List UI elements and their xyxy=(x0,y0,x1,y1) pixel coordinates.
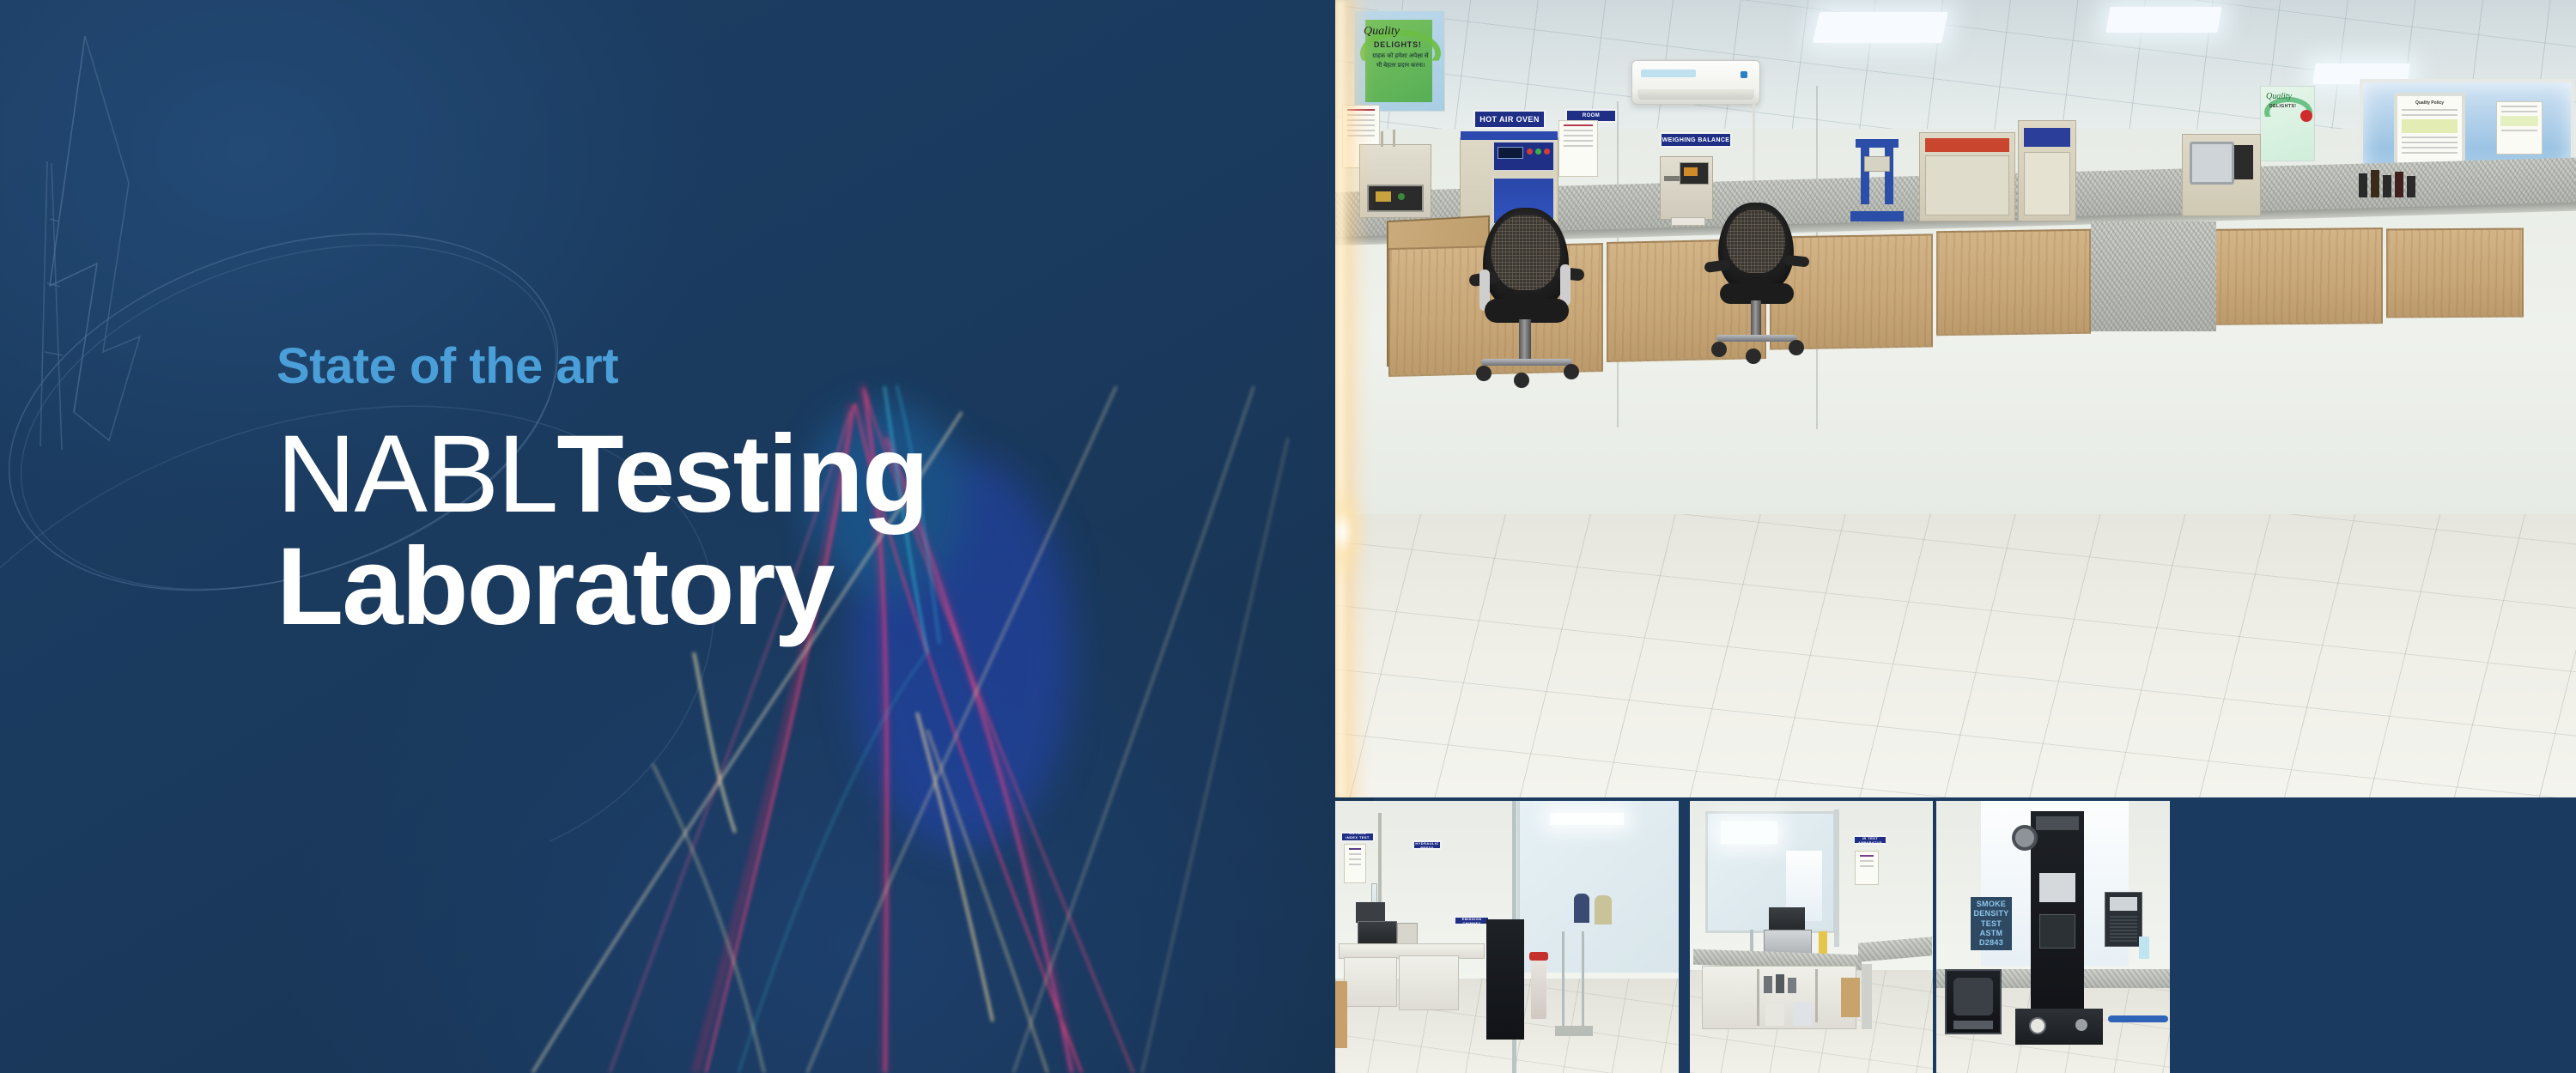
left-brand-panel: State of the art NABLTesting Laboratory xyxy=(0,0,1374,1073)
laboratory-oven xyxy=(1919,132,2015,221)
tap-fixture xyxy=(1750,930,1753,954)
sign-hot-air-oven: HOT AIR OVEN xyxy=(1473,110,1546,129)
sign-ir-test-apparatus: IR TEST APPARATUS xyxy=(1853,835,1887,845)
laboratory-oven xyxy=(2018,120,2076,221)
floor-tile-grid xyxy=(1335,514,2576,797)
hero-text-block: State of the art NABLTesting Laboratory xyxy=(276,342,1290,641)
vertical-duct xyxy=(1862,964,1872,1029)
ceiling-light xyxy=(1550,813,1624,825)
lab-photo-column: Quality DELIGHTS! ग्राहक को हमेशा अपेक्ष… xyxy=(1335,0,2576,1073)
test-stand-base xyxy=(1555,1026,1593,1036)
reagent-bottles xyxy=(2357,168,2424,197)
photo-warm-edge xyxy=(1335,0,1375,797)
smoke-density-chamber xyxy=(1945,969,2002,1034)
hero-kicker: State of the art xyxy=(276,342,1290,391)
granite-side-counter xyxy=(2091,221,2216,331)
hero-banner: State of the art NABLTesting Laboratory xyxy=(0,0,2576,1073)
shelf-divider xyxy=(1815,969,1818,1022)
title-word-laboratory: Laboratory xyxy=(276,533,1290,640)
wall-panel xyxy=(1834,809,1839,947)
sign-hydraulic-press: HYDRAULIC PRESS xyxy=(1413,840,1442,850)
air-conditioner xyxy=(1631,60,1760,105)
weighing-balance-instrument xyxy=(1660,156,1713,220)
thumbnail-strip: OXYGEN INDEX TEST APPARATUS HYDRAULIC PR… xyxy=(1335,801,2576,1073)
title-word-nabl: NABL xyxy=(276,413,556,536)
universal-testing-machine xyxy=(2031,811,2084,1022)
wall-document xyxy=(2496,101,2543,155)
fire-extinguisher xyxy=(1531,959,1546,1019)
compression-testing-machine xyxy=(1850,139,1904,221)
poster-body: ग्राहक को हमेशा अपेक्षा से भी बेहतर प्रद… xyxy=(1370,52,1431,70)
instrument-panel xyxy=(2105,892,2142,947)
ceiling-light xyxy=(1721,821,1777,844)
muffle-furnace xyxy=(2182,134,2261,216)
reagent-bottle xyxy=(1819,931,1827,954)
test-stand xyxy=(1562,931,1584,1029)
ceiling-light xyxy=(2105,7,2221,33)
poster-right-title: Quality xyxy=(2266,92,2292,101)
person-silhouette xyxy=(1595,895,1612,924)
main-lab-photo: Quality DELIGHTS! ग्राहक को हमेशा अपेक्ष… xyxy=(1335,0,2576,797)
under-counter-cabinet xyxy=(1936,229,2091,336)
poster-subtitle: DELIGHTS! xyxy=(1374,40,1422,49)
quality-poster-right: Quality DELIGHTS! xyxy=(2260,86,2315,161)
thumbnail-granite-bench-lab[interactable]: IR TEST APPARATUS xyxy=(1690,801,1933,1073)
pulley-wheel xyxy=(2012,825,2038,851)
under-counter-cabinet xyxy=(1770,233,1933,349)
fire-alarm-bell xyxy=(2300,110,2312,122)
under-counter-cabinet xyxy=(1607,239,1766,362)
wall-document xyxy=(1855,851,1879,885)
page-title: NABLTesting Laboratory xyxy=(276,421,1290,641)
under-counter-cabinet xyxy=(2211,227,2383,325)
shelf-divider xyxy=(1757,969,1759,1026)
extinguisher-valve xyxy=(1529,952,1548,961)
shelf-container xyxy=(1793,1002,1812,1026)
lab-cabinet xyxy=(1344,957,1397,1007)
wall-document xyxy=(1558,120,1598,177)
ceiling-light xyxy=(1813,12,1948,43)
framed-doc-title: Quality Policy xyxy=(2397,100,2462,106)
sign-oxygen-index: OXYGEN INDEX TEST APPARATUS xyxy=(1340,832,1375,842)
blue-hose xyxy=(2108,1015,2168,1022)
control-unit xyxy=(1397,923,1418,945)
shelf-bottle xyxy=(1764,976,1772,993)
instrument-box xyxy=(1356,902,1385,923)
title-word-testing: Testing xyxy=(556,413,927,536)
sign-weighing-balance: WEIGHING BALANCE xyxy=(1660,132,1732,148)
cardboard-box xyxy=(1335,981,1347,1048)
water-bottle xyxy=(2139,937,2149,959)
cardboard-box xyxy=(1841,978,1860,1017)
machine-base xyxy=(2015,1009,2103,1045)
wall-document xyxy=(1344,844,1366,883)
emission-chimney xyxy=(1486,919,1524,1040)
shelf-bottle xyxy=(1788,978,1796,993)
vertical-pipe xyxy=(1378,813,1382,907)
lab-cabinet xyxy=(1399,955,1459,1010)
sign-emission-chimney: EMISSION CHIMNEY xyxy=(1454,916,1490,925)
smoke-density-test-label: SMOKE DENSITY TEST ASTM D2843 xyxy=(1971,897,2012,950)
person-silhouette xyxy=(1574,894,1589,923)
poster-right-subtitle: DELIGHTS! xyxy=(2269,104,2296,109)
thumbnail-smoke-density-test[interactable]: SMOKE DENSITY TEST ASTM D2843 xyxy=(1936,801,2170,1073)
shelf-bottle xyxy=(1776,974,1784,993)
under-counter-cabinet xyxy=(1388,243,1603,377)
under-counter-cabinet xyxy=(2386,228,2524,318)
shelf-container xyxy=(1765,1003,1784,1026)
thumbnail-oxygen-index-lab[interactable]: OXYGEN INDEX TEST APPARATUS HYDRAULIC PR… xyxy=(1335,801,1679,1073)
